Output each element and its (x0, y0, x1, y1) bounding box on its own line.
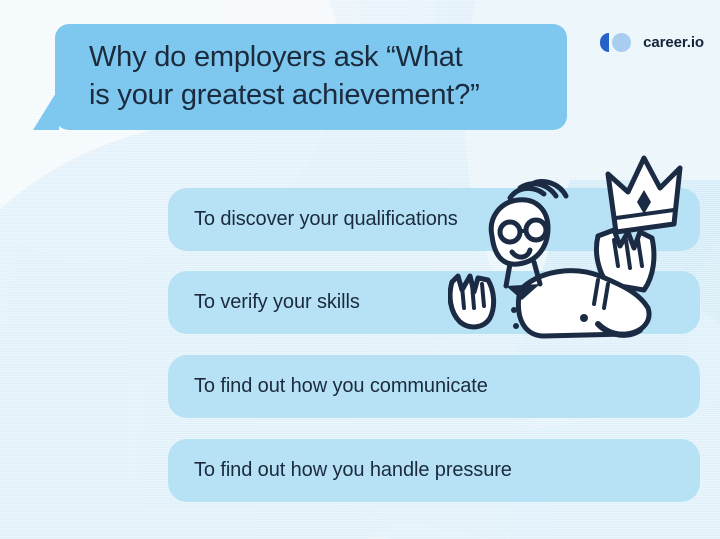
career-io-logo-icon (600, 33, 634, 52)
logo-half-circle-icon (600, 33, 609, 52)
answer-option-label: To find out how you communicate (194, 375, 488, 398)
logo-circle-icon (612, 33, 631, 52)
answer-option-4[interactable]: To find out how you handle pressure (168, 439, 700, 502)
question-text: Why do employers ask “What is your great… (89, 38, 541, 114)
brand-name: career.io (643, 34, 704, 51)
answer-option-label: To discover your qualifications (194, 208, 458, 231)
answer-option-label: To verify your skills (194, 291, 360, 314)
answer-option-label: To find out how you handle pressure (194, 459, 512, 482)
brand-logo[interactable]: career.io (600, 33, 704, 52)
answer-option-1[interactable]: To discover your qualifications (168, 188, 700, 251)
speech-bubble-tail (33, 88, 59, 130)
question-bubble: Why do employers ask “What is your great… (55, 24, 567, 130)
answer-option-2[interactable]: To verify your skills (168, 271, 700, 334)
slide-canvas: Why do employers ask “What is your great… (0, 0, 720, 539)
answer-option-3[interactable]: To find out how you communicate (168, 355, 700, 418)
